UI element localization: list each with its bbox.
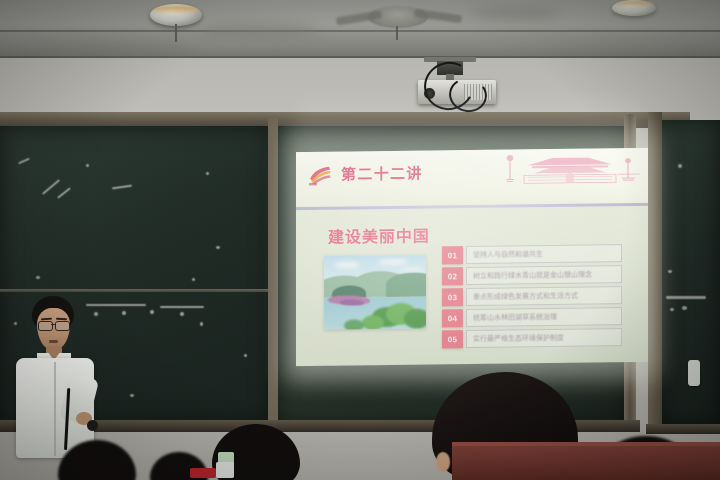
party-emblem-icon	[307, 163, 333, 187]
list-item-label: 树立和践行绿水青山就是金山银山理念	[473, 270, 592, 281]
board-eraser	[688, 360, 700, 386]
board-frame-left-post	[268, 118, 278, 430]
classroom-scene: 第二十二讲	[0, 0, 720, 480]
list-item[interactable]: 02 树立和践行绿水青山就是金山银山理念	[442, 265, 622, 285]
list-item-badge: 01	[442, 246, 463, 264]
list-item[interactable]: 03 重点形成绿色发展方式和生活方式	[442, 286, 622, 306]
wooden-podium	[452, 442, 720, 480]
presenter-glasses-right-icon	[55, 321, 70, 331]
list-item[interactable]: 01 坚持人与自然和谐共生	[442, 244, 622, 264]
list-item-badge: 04	[442, 309, 463, 327]
lecture-title: 第二十二讲	[341, 163, 423, 185]
landscape-photo	[324, 255, 426, 330]
list-item-badge: 05	[442, 330, 463, 348]
red-object-on-tray	[190, 468, 216, 478]
list-item-box: 树立和践行绿水青山就是金山银山理念	[466, 265, 622, 285]
list-item-label: 统筹山水林田湖草系统治理	[473, 312, 557, 323]
ceiling-light-rod	[175, 24, 177, 42]
white-cup-on-tray	[216, 462, 234, 478]
podium-top-edge	[452, 442, 720, 446]
list-item-badge: 03	[442, 288, 463, 306]
list-item-badge: 02	[442, 267, 463, 285]
list-item-label: 实行最严格生态环境保护制度	[473, 333, 564, 344]
board-frame-far-right-post	[648, 112, 662, 430]
list-item[interactable]: 04 统筹山水林田湖草系统治理	[442, 307, 622, 327]
chalkboard-right	[660, 120, 720, 426]
list-item-box: 实行最严格生态环境保护制度	[466, 328, 622, 348]
list-item-box: 统筹山水林田湖草系统治理	[466, 307, 622, 327]
key-points-list: 01 坚持人与自然和谐共生 02 树立和践行绿水青山就是金山银山理念 03 重点…	[442, 244, 622, 350]
microphone-head	[87, 420, 98, 431]
chalk-tray-right	[646, 424, 720, 434]
header-divider	[296, 203, 648, 210]
list-item-label: 重点形成绿色发展方式和生活方式	[473, 291, 578, 302]
list-item[interactable]: 05 实行最严格生态环境保护制度	[442, 328, 622, 348]
list-item-box: 坚持人与自然和谐共生	[466, 244, 622, 264]
tiananmen-illustration-icon	[492, 152, 642, 190]
student-ear	[436, 452, 450, 472]
presenter-glasses-icon	[38, 321, 53, 331]
section-title: 建设美丽中国	[328, 223, 430, 248]
list-item-box: 重点形成绿色发展方式和生活方式	[466, 286, 622, 306]
list-item-label: 坚持人与自然和谐共生	[473, 249, 543, 260]
slide-content: 第二十二讲	[296, 148, 648, 366]
projection-screen: 第二十二讲	[296, 148, 648, 366]
ceiling-light-icon	[150, 4, 202, 26]
ceiling-light-secondary-icon	[612, 0, 656, 16]
